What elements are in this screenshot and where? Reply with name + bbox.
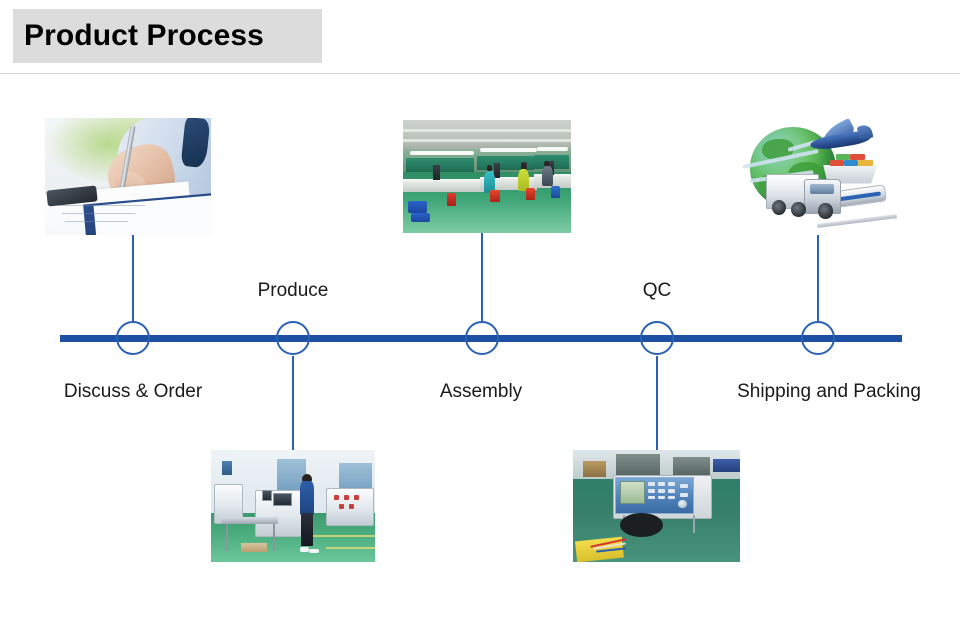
panel-button bbox=[658, 496, 665, 499]
shipping-container bbox=[830, 160, 844, 166]
instrument-leg bbox=[693, 515, 695, 533]
panel-button bbox=[658, 482, 665, 485]
assembly-line-photo bbox=[403, 120, 571, 233]
shipping-container bbox=[836, 154, 850, 160]
panel-button bbox=[680, 493, 688, 497]
cardboard-box bbox=[241, 543, 267, 552]
logistics-shipping-photo bbox=[740, 118, 900, 235]
plastic-crate bbox=[408, 201, 426, 212]
control-indicator bbox=[354, 495, 359, 501]
control-indicator bbox=[344, 495, 349, 501]
panel-button bbox=[648, 489, 655, 492]
timeline-node-shipping-packing[interactable] bbox=[801, 321, 835, 355]
truck-wheel bbox=[818, 203, 832, 218]
bench-machine bbox=[494, 163, 501, 178]
connector-shipping bbox=[817, 235, 819, 321]
timeline-label-produce: Produce bbox=[193, 281, 393, 300]
bench-machine bbox=[433, 165, 440, 180]
shipping-container bbox=[858, 160, 872, 166]
ceiling-beam bbox=[403, 139, 571, 142]
signing-contract-photo bbox=[45, 118, 211, 235]
worker-shoe bbox=[300, 547, 310, 551]
page-title: Product Process bbox=[13, 21, 264, 51]
workbench bbox=[403, 179, 484, 192]
work-cart bbox=[222, 517, 278, 524]
timeline-label-assembly: Assembly bbox=[381, 382, 581, 401]
work-lamp bbox=[410, 151, 474, 155]
timeline-node-qc[interactable] bbox=[640, 321, 674, 355]
connector-qc bbox=[656, 356, 658, 450]
worker-shoe bbox=[309, 549, 319, 553]
truck-windshield bbox=[810, 184, 834, 195]
connector-assembly bbox=[481, 233, 483, 321]
control-indicator bbox=[349, 504, 354, 510]
control-indicator bbox=[334, 495, 339, 501]
worker-legs bbox=[301, 513, 312, 547]
floor-marking bbox=[313, 535, 375, 537]
work-lamp bbox=[480, 148, 537, 152]
panel-knob bbox=[678, 500, 686, 508]
control-indicator bbox=[339, 504, 344, 510]
stool-blue bbox=[551, 186, 560, 198]
cart-leg bbox=[226, 524, 228, 551]
shipping-container bbox=[850, 154, 864, 160]
panel-button bbox=[658, 489, 665, 492]
floor-marking bbox=[326, 547, 375, 549]
paper-rule bbox=[58, 205, 144, 206]
shipping-container bbox=[844, 160, 858, 166]
truck-wheel bbox=[791, 202, 805, 217]
back-shelf bbox=[583, 461, 606, 477]
timeline-label-discuss-order: Discuss & Order bbox=[33, 382, 233, 401]
header-divider bbox=[0, 73, 960, 74]
worker-body bbox=[542, 166, 553, 185]
stool-red bbox=[526, 188, 535, 200]
stool-red bbox=[447, 193, 456, 205]
panel-button bbox=[680, 484, 688, 488]
timeline-label-shipping-packing: Shipping and Packing bbox=[709, 382, 949, 401]
paper-rule bbox=[65, 221, 128, 222]
ceiling-beam bbox=[403, 129, 571, 132]
plastic-crate bbox=[411, 213, 429, 222]
timeline-label-qc: QC bbox=[557, 281, 757, 300]
timeline-node-discuss-order[interactable] bbox=[116, 321, 150, 355]
paper-rule bbox=[62, 213, 135, 214]
back-shelf bbox=[713, 459, 740, 472]
panel-button bbox=[648, 482, 655, 485]
qc-test-equipment-photo bbox=[573, 450, 740, 562]
panel-button bbox=[648, 496, 655, 499]
timeline-node-produce[interactable] bbox=[276, 321, 310, 355]
stool-red bbox=[490, 190, 499, 202]
timeline-node-assembly[interactable] bbox=[465, 321, 499, 355]
work-lamp bbox=[537, 147, 567, 151]
machining-workshop-photo bbox=[211, 450, 375, 562]
panel-button bbox=[668, 489, 675, 492]
panel-button bbox=[668, 482, 675, 485]
wall-panel bbox=[222, 461, 232, 474]
connector-discuss-order bbox=[132, 235, 134, 321]
instrument-display bbox=[620, 481, 645, 503]
cart-leg bbox=[273, 524, 275, 551]
connector-produce bbox=[292, 356, 294, 450]
machine-display bbox=[262, 490, 272, 501]
back-shelf bbox=[673, 457, 710, 477]
panel-button bbox=[668, 496, 675, 499]
bench-rack bbox=[406, 158, 473, 172]
worker-torso bbox=[300, 481, 315, 515]
machine-display bbox=[273, 493, 291, 506]
title-band: Product Process bbox=[13, 9, 322, 63]
